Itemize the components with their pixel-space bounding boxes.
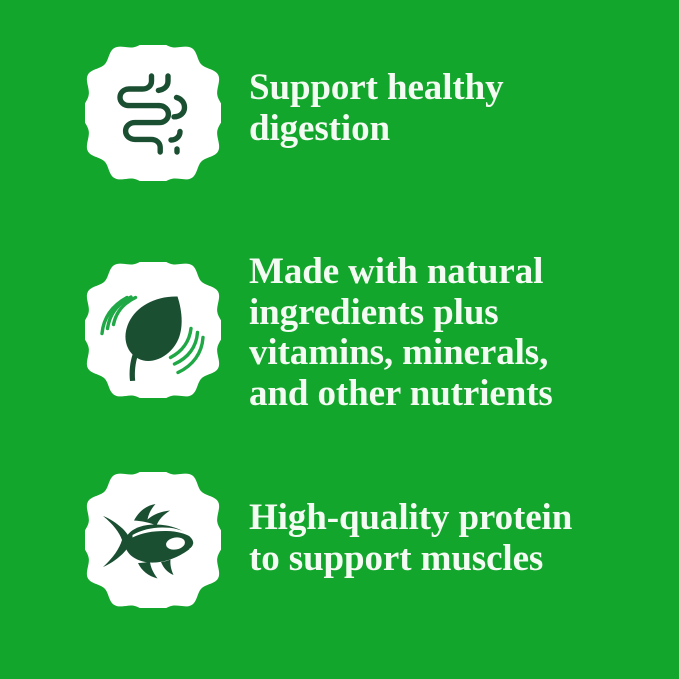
benefit-badge-protein <box>85 472 221 608</box>
benefit-row: Made with natural ingredients plus vitam… <box>0 252 679 412</box>
product-benefits-poster: Support healthy digestion <box>0 0 679 679</box>
benefit-text-protein: High-quality protein to support muscles <box>249 498 669 579</box>
benefit-row: High-quality protein to support muscles <box>0 472 679 608</box>
benefit-text-digestion: Support healthy digestion <box>249 68 669 149</box>
scalloped-badge <box>85 45 221 181</box>
benefit-badge-digestion <box>85 45 221 181</box>
benefit-row: Support healthy digestion <box>0 45 679 181</box>
benefit-badge-ingredients <box>85 262 221 398</box>
benefit-text-ingredients: Made with natural ingredients plus vitam… <box>249 252 669 414</box>
